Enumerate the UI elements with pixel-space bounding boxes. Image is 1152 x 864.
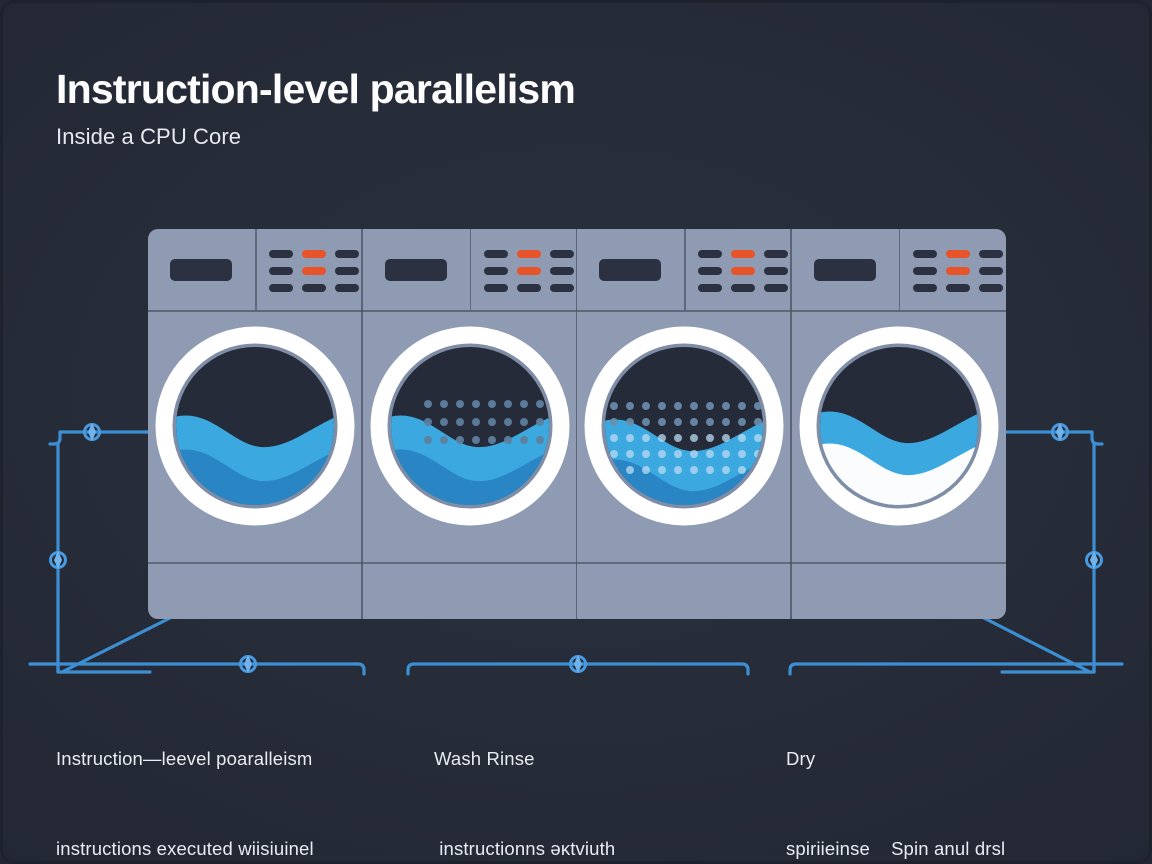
led-indicator [764,250,788,258]
led-indicator [550,267,574,275]
led-indicator [269,250,293,258]
led-indicator [302,284,326,292]
display-slab-icon [170,259,232,281]
led-indicator-active [946,250,970,258]
caption-line: Wash Rinse [434,744,764,774]
display-slab-icon [599,259,661,281]
led-area-4 [910,229,1006,310]
led-indicator [484,284,508,292]
led-indicator [979,250,1003,258]
led-indicator [946,284,970,292]
led-indicator-active [302,267,326,275]
led-indicator [731,284,755,292]
control-panel-4[interactable] [792,229,1007,310]
panel-underline [577,310,792,312]
poster-canvas: Instruction-level parallelism Inside a C… [0,0,1152,864]
display-area-4 [792,229,910,310]
panel-underline [148,310,363,312]
trace-node-left-top [85,423,100,441]
trace-node-right-top [1053,423,1068,441]
display-slab-icon [385,259,447,281]
page-title: Instruction-level parallelism [56,68,575,111]
led-indicator-active [302,250,326,258]
body-divider [577,562,792,564]
washing-machine-4[interactable] [792,229,1007,619]
drum-porthole-2[interactable] [366,322,574,530]
control-panel-2[interactable] [363,229,578,310]
display-slab-icon [814,259,876,281]
drum-porthole-4[interactable] [795,322,1003,530]
led-indicator [484,267,508,275]
led-indicator [269,284,293,292]
led-indicator [698,267,722,275]
caption-line: instructions executed wiisiuinel [56,834,396,864]
panel-divider [255,229,257,310]
led-grid-2 [484,250,574,292]
trace-node-right-mid [1087,551,1102,569]
led-indicator [913,250,937,258]
control-panel-1[interactable] [148,229,363,310]
led-indicator [764,267,788,275]
led-indicator [335,284,359,292]
led-indicator [335,250,359,258]
led-indicator-active [946,267,970,275]
display-area-2 [363,229,481,310]
display-area-3 [577,229,695,310]
led-indicator-active [731,250,755,258]
led-indicator [698,284,722,292]
panel-divider [684,229,686,310]
led-indicator [913,284,937,292]
led-grid-4 [913,250,1003,292]
led-indicator [269,267,293,275]
led-grid-1 [269,250,359,292]
led-indicator [550,284,574,292]
caption-row: Instruction—leevel poaralleism instructi… [0,684,1152,814]
trace-node-left-mid [51,551,66,569]
led-indicator-active [517,267,541,275]
washing-machine-3[interactable] [577,229,792,619]
led-indicator [764,284,788,292]
led-area-2 [481,229,577,310]
trace-node-bottom-2 [571,655,586,673]
led-indicator [484,250,508,258]
led-indicator [517,284,541,292]
panel-underline [363,310,578,312]
led-indicator-active [731,267,755,275]
caption-instruction-level-parallelism: Instruction—leevel poaralleism instructi… [56,684,396,864]
control-panel-3[interactable] [577,229,792,310]
led-indicator [979,284,1003,292]
drum-porthole-3[interactable] [580,322,788,530]
caption-dry-spin: Dry spiriieinse Spin anul drsl tratlgayu… [786,684,1106,864]
washing-machine-1[interactable] [148,229,363,619]
drum-porthole-1[interactable] [151,322,359,530]
led-indicator [550,250,574,258]
led-area-3 [695,229,791,310]
panel-divider [899,229,901,310]
caption-wash-rinse: Wash Rinse instructionns əκtviuth Єry, o… [434,684,764,864]
display-area-1 [148,229,266,310]
caption-line: instructionns əκtviuth [434,834,764,864]
led-indicator [913,267,937,275]
led-grid-3 [698,250,788,292]
panel-underline [792,310,1007,312]
led-area-1 [266,229,362,310]
caption-line: Instruction—leevel poaralleism [56,744,396,774]
led-indicator-active [517,250,541,258]
body-divider [148,562,363,564]
title-block: Instruction-level parallelism Inside a C… [56,68,575,150]
caption-line: spiriieinse Spin anul drsl [786,834,1106,864]
panel-divider [470,229,472,310]
body-divider [792,562,1007,564]
trace-node-bottom-1 [241,655,256,673]
led-indicator [335,267,359,275]
caption-line: Dry [786,744,1106,774]
led-indicator [979,267,1003,275]
washing-machine-2[interactable] [363,229,578,619]
led-indicator [698,250,722,258]
page-subtitle: Inside a CPU Core [56,125,575,149]
washing-machine-row [148,229,1006,619]
body-divider [363,562,578,564]
